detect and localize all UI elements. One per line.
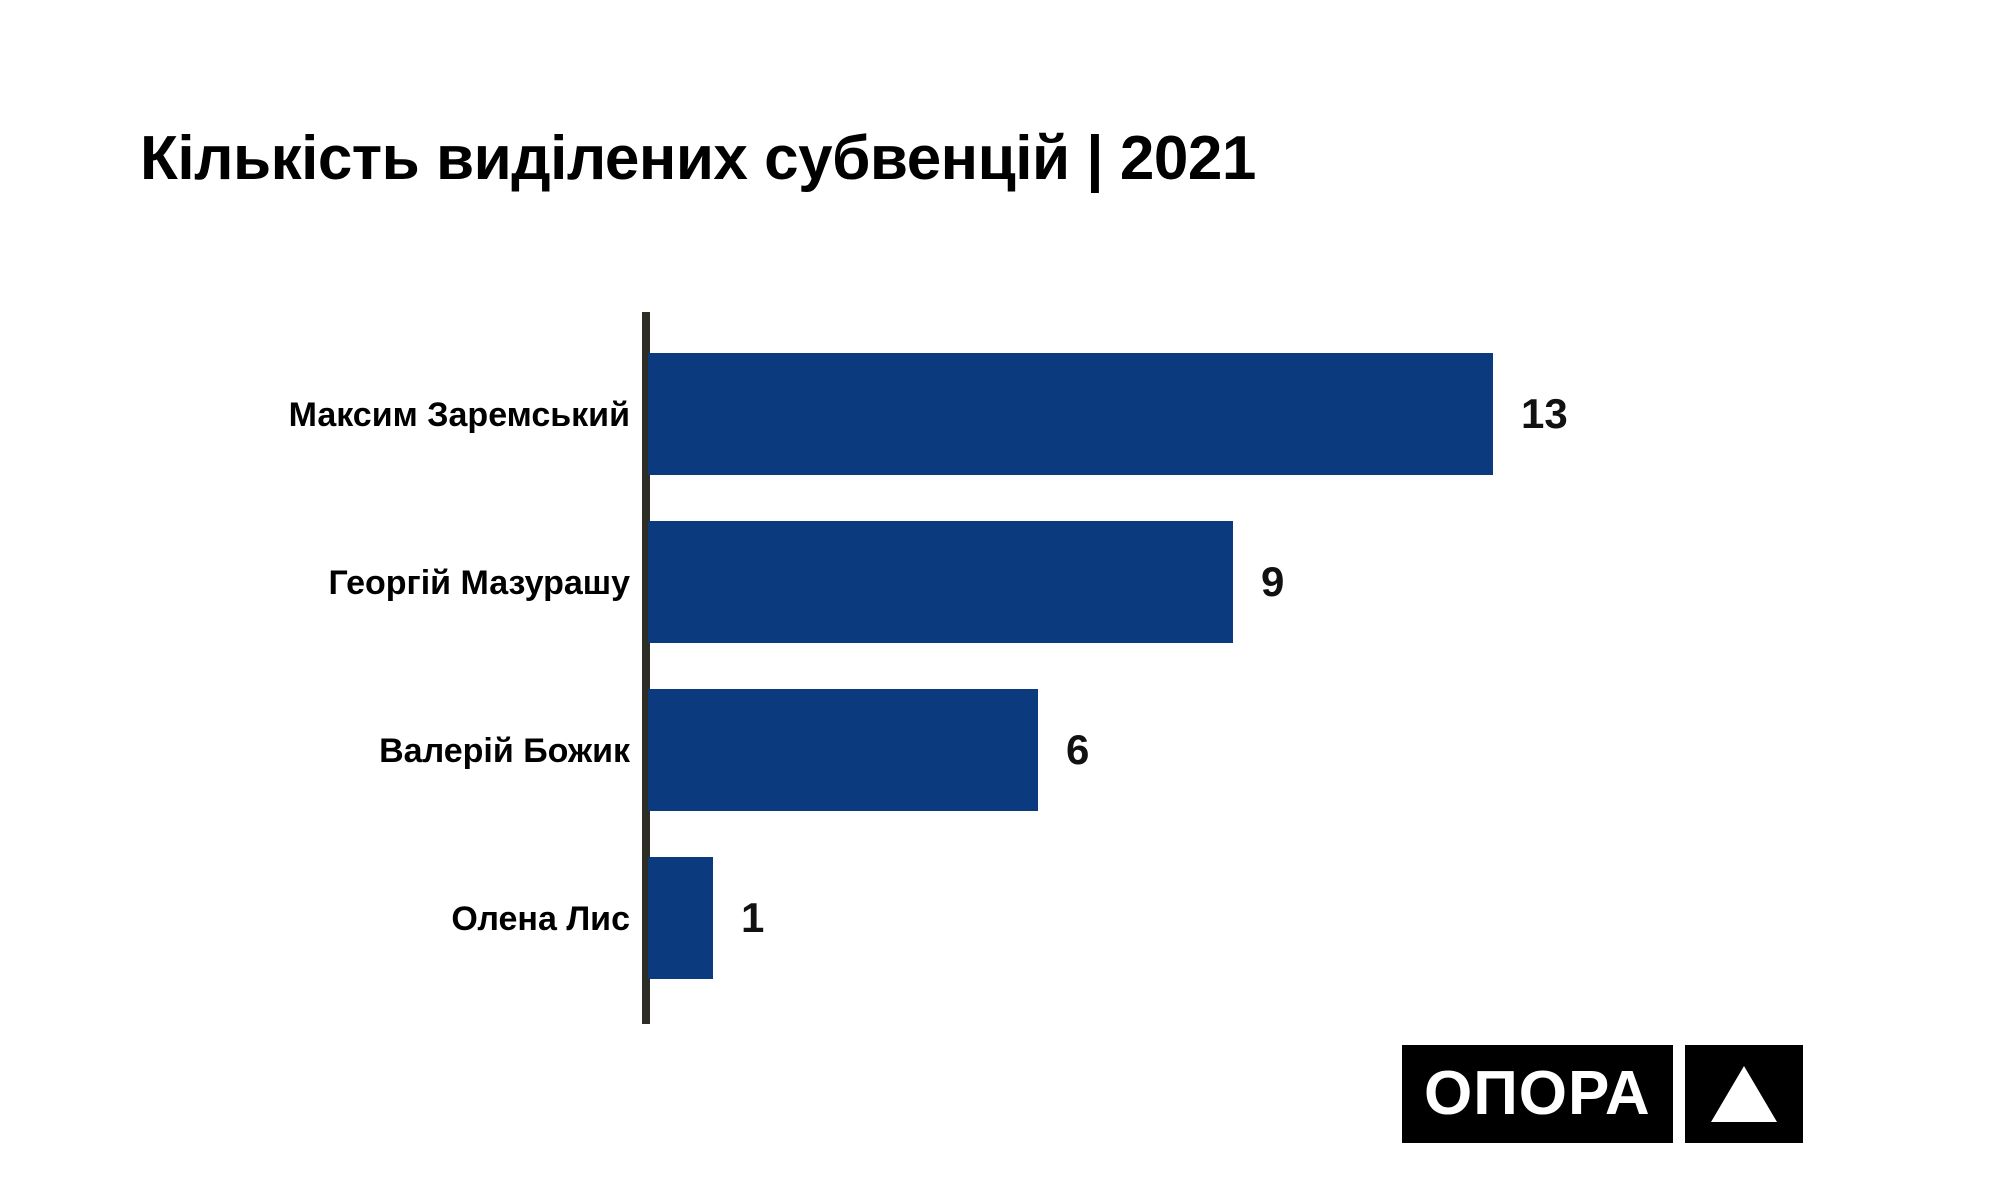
triangle-icon xyxy=(1685,1045,1803,1143)
bar[interactable] xyxy=(648,521,1233,643)
bar[interactable] xyxy=(648,689,1038,811)
page-title: Кількість виділених субвенцій | 2021 xyxy=(140,128,1256,190)
category-label: Олена Лис xyxy=(0,902,630,936)
category-label: Георгій Мазурашу xyxy=(0,566,630,600)
bar-value-label: 6 xyxy=(1066,689,1089,811)
bar-row: Максим Заремський 13 xyxy=(0,332,2000,497)
opora-logo: ОПОРА xyxy=(1402,1045,1803,1143)
plot-area: Максим Заремський 13 Георгій Мазурашу 9 … xyxy=(0,300,2000,1040)
category-label: Максим Заремський xyxy=(0,398,630,432)
triangle-glyph xyxy=(1711,1066,1777,1122)
chart-canvas: Кількість виділених субвенцій | 2021 Мак… xyxy=(0,0,2000,1200)
bar-value-label: 9 xyxy=(1261,521,1284,643)
category-label: Валерій Божик xyxy=(0,734,630,768)
opora-wordmark: ОПОРА xyxy=(1402,1045,1673,1143)
bar[interactable] xyxy=(648,353,1493,475)
bar-row: Георгій Мазурашу 9 xyxy=(0,500,2000,665)
bar-value-label: 1 xyxy=(741,857,764,979)
bar[interactable] xyxy=(648,857,713,979)
bar-value-label: 13 xyxy=(1521,353,1568,475)
bar-rows: Максим Заремський 13 Георгій Мазурашу 9 … xyxy=(0,300,2000,1040)
bar-row: Олена Лис 1 xyxy=(0,836,2000,1001)
bar-row: Валерій Божик 6 xyxy=(0,668,2000,833)
